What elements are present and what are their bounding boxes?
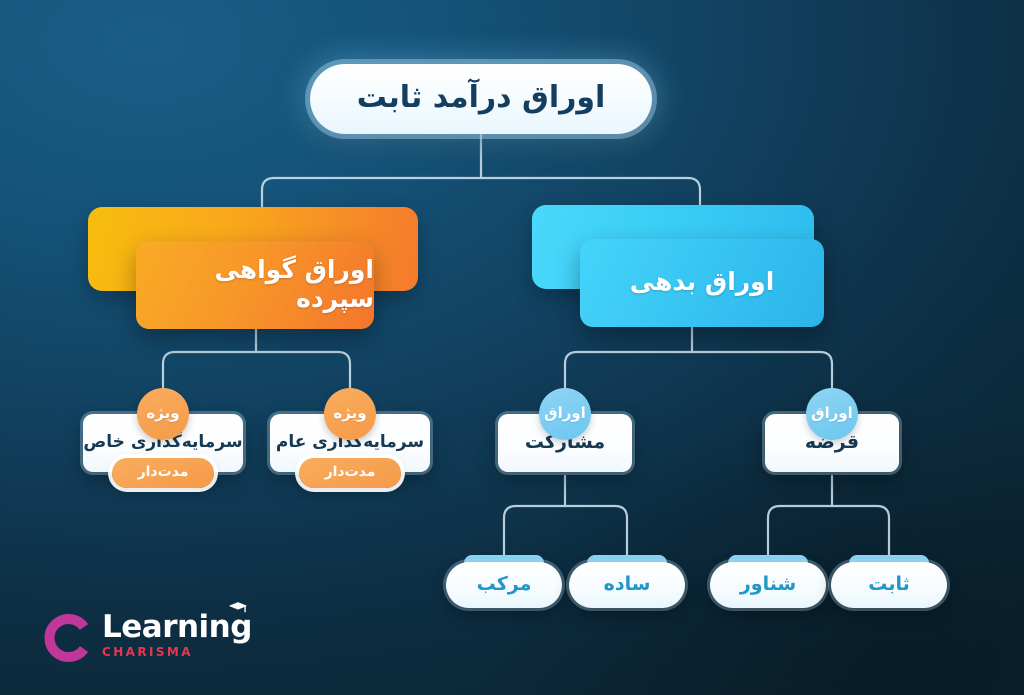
terminal-body: ثابت (831, 562, 947, 608)
terminal-label: مرکب (477, 573, 532, 597)
terminal-label: شناور (740, 573, 796, 597)
leaf-pill-label: مدت‌دار (325, 464, 376, 482)
terminal-node-simple[interactable]: ساده (569, 556, 685, 608)
leaf-badge: اوراق (539, 388, 591, 440)
graduation-cap-icon (228, 601, 248, 615)
leaf-node-general-investment[interactable]: ویژه سرمایه‌گذاری عام مدت‌دار (270, 396, 430, 516)
logo-wordmark: Learning CHARISMA (102, 610, 252, 659)
branch-node-debt[interactable]: اوراق بدهی (532, 205, 824, 327)
terminal-node-fixed[interactable]: ثابت (831, 556, 947, 608)
branch-card-front: اوراق بدهی (580, 239, 824, 327)
leaf-pill: مدت‌دار (112, 458, 214, 488)
brand-logo: Learning CHARISMA (44, 608, 274, 670)
leaf-badge: ویژه (324, 388, 376, 440)
leaf-badge: ویژه (137, 388, 189, 440)
root-node-label: اوراق درآمد ثابت (357, 80, 606, 119)
terminal-body: مرکب (446, 562, 562, 608)
branch-label-deposit: اوراق گواهی سپرده (136, 255, 374, 316)
branch-card-front: اوراق گواهی سپرده (136, 241, 374, 329)
root-node[interactable]: اوراق درآمد ثابت (310, 64, 652, 134)
branch-label-debt: اوراق بدهی (630, 267, 775, 299)
leaf-badge-label: ویژه (146, 404, 179, 424)
leaf-badge-label: اوراق (544, 404, 586, 424)
terminal-body: ساده (569, 562, 685, 608)
terminal-label: ثابت (868, 573, 910, 597)
logo-word: Learning (102, 610, 252, 644)
diagram-canvas: اوراق درآمد ثابت اوراق گواهی سپرده اوراق… (0, 0, 1024, 695)
charisma-c-icon (44, 614, 92, 662)
leaf-pill-label: مدت‌دار (138, 464, 189, 482)
terminal-body: شناور (710, 562, 826, 608)
terminal-label: ساده (604, 573, 651, 597)
terminal-node-floating[interactable]: شناور (710, 556, 826, 608)
leaf-pill: مدت‌دار (299, 458, 401, 488)
logo-subtext: CHARISMA (102, 645, 252, 659)
leaf-badge-label: ویژه (333, 404, 366, 424)
branch-node-deposit[interactable]: اوراق گواهی سپرده (88, 207, 428, 329)
terminal-node-compound[interactable]: مرکب (446, 556, 562, 608)
leaf-badge: اوراق (806, 388, 858, 440)
leaf-node-special-investment[interactable]: ویژه سرمایه‌گذاری خاص مدت‌دار (83, 396, 243, 516)
leaf-node-participation[interactable]: اوراق مشارکت (498, 396, 632, 476)
leaf-badge-label: اوراق (811, 404, 853, 424)
leaf-node-loan[interactable]: اوراق قرضه (765, 396, 899, 476)
